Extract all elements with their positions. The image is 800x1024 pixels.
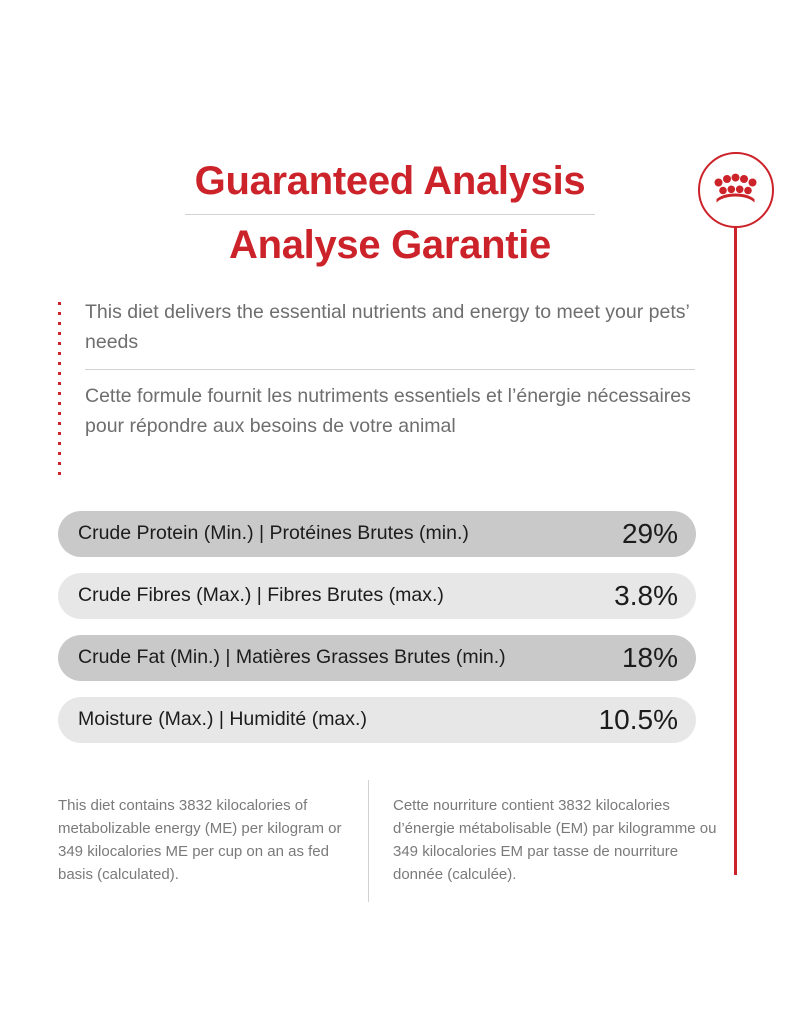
title-french: Analyse Garantie [0, 224, 780, 267]
nutrient-value: 10.5% [599, 706, 678, 734]
intro-block: This diet delivers the essential nutrien… [58, 298, 708, 442]
intro-divider [85, 369, 695, 370]
nutrient-table: Crude Protein (Min.) | Protéines Brutes … [58, 511, 696, 759]
intro-text-english: This diet delivers the essential nutrien… [85, 298, 708, 357]
guaranteed-analysis-panel: Guaranteed Analysis Analyse Garantie Thi… [0, 0, 800, 1024]
footnote-french: Cette nourriture contient 3832 kilocalor… [369, 795, 718, 887]
table-row: Crude Protein (Min.) | Protéines Brutes … [58, 511, 696, 557]
royal-canin-crown-icon [698, 152, 774, 228]
title-english: Guaranteed Analysis [0, 160, 780, 203]
page-title: Guaranteed Analysis Analyse Garantie [0, 160, 780, 267]
nutrient-value: 3.8% [614, 582, 678, 610]
table-row: Crude Fat (Min.) | Matières Grasses Brut… [58, 635, 696, 681]
footnote-english: This diet contains 3832 kilocalories of … [58, 795, 368, 887]
intro-text-french: Cette formule fournit les nutriments ess… [85, 382, 708, 441]
dotted-accent-line [58, 302, 61, 476]
brand-vertical-rule [734, 226, 737, 875]
title-divider [185, 214, 595, 215]
nutrient-value: 18% [622, 644, 678, 672]
nutrient-label: Crude Fibres (Max.) | Fibres Brutes (max… [78, 586, 444, 606]
table-row: Moisture (Max.) | Humidité (max.) 10.5% [58, 697, 696, 743]
nutrient-value: 29% [622, 520, 678, 548]
nutrient-label: Moisture (Max.) | Humidité (max.) [78, 710, 367, 730]
table-row: Crude Fibres (Max.) | Fibres Brutes (max… [58, 573, 696, 619]
nutrient-label: Crude Fat (Min.) | Matières Grasses Brut… [78, 648, 506, 668]
nutrient-label: Crude Protein (Min.) | Protéines Brutes … [78, 524, 469, 544]
footnote-block: This diet contains 3832 kilocalories of … [58, 780, 718, 902]
